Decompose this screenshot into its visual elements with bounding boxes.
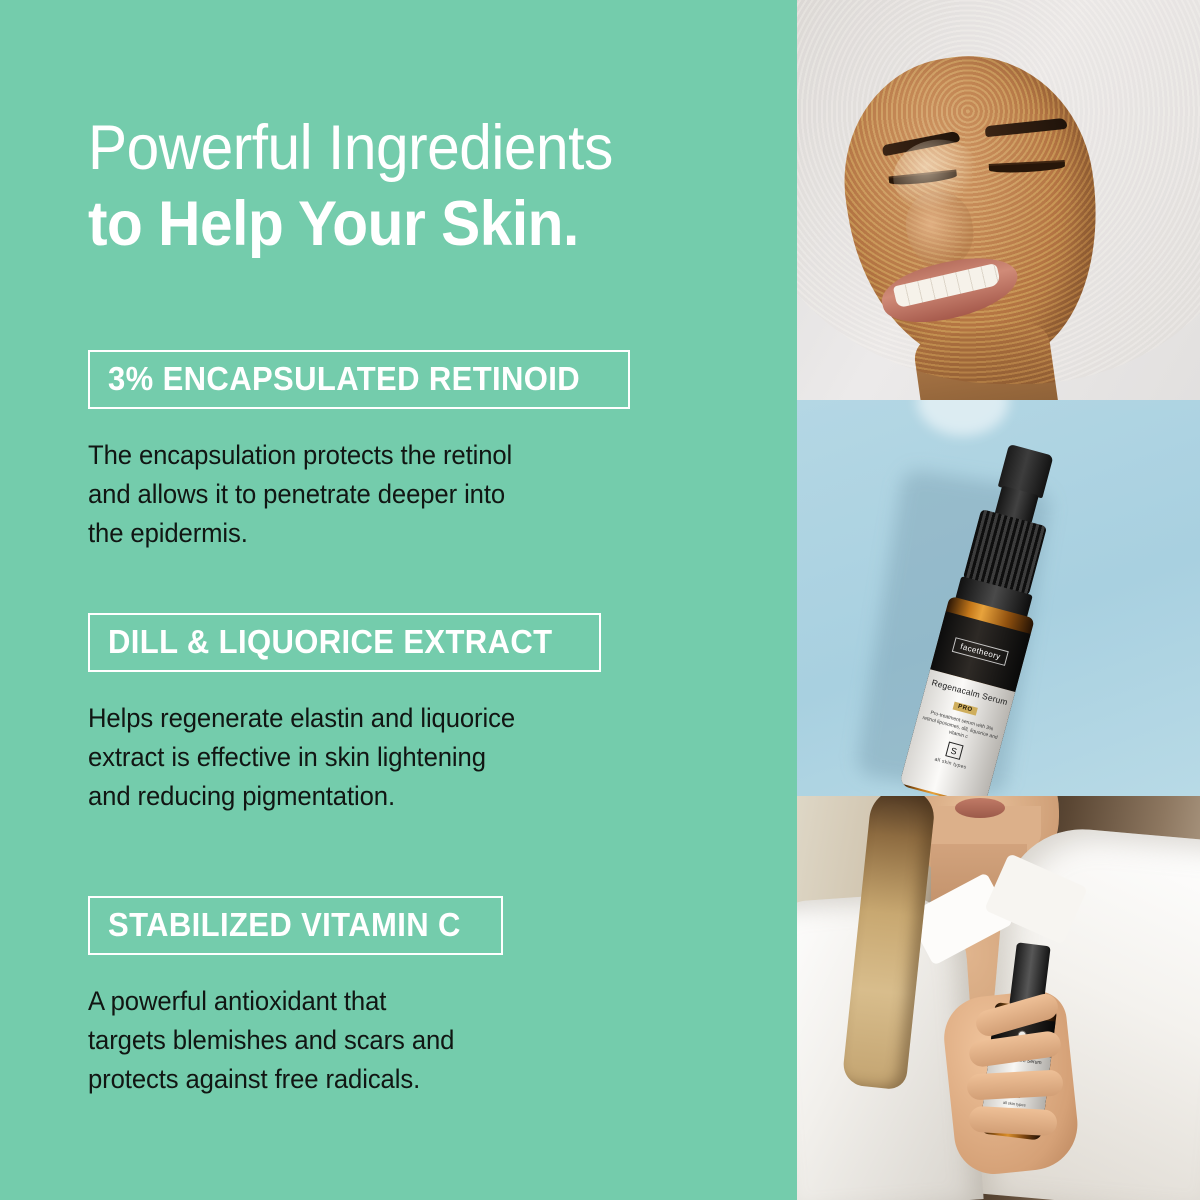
ingredient-block-retinoid: 3% ENCAPSULATED RETINOID The encapsulati… xyxy=(88,350,630,553)
skin-mark-icon: S xyxy=(945,741,963,759)
photo-column: facetheory Regenacalm Serum PRO Pro-trea… xyxy=(797,0,1200,1200)
ingredient-title-box-vitamin-c: STABILIZED VITAMIN C xyxy=(88,896,503,955)
finger-little xyxy=(968,1106,1057,1137)
infographic-page: Powerful Ingredients to Help Your Skin. … xyxy=(0,0,1200,1200)
model-hair-texture xyxy=(797,0,1200,384)
ingredient-body-retinoid: The encapsulation protects the retinol a… xyxy=(88,436,603,553)
ingredient-body-vitamin-c: A powerful antioxidant that targets blem… xyxy=(88,982,483,1099)
ingredient-title-box-retinoid: 3% ENCAPSULATED RETINOID xyxy=(88,350,630,409)
photo-smiling-model-portrait xyxy=(797,0,1200,400)
ingredient-block-dill-liquorice: DILL & LIQUORICE EXTRACT Helps regenerat… xyxy=(88,613,601,816)
ingredients-panel: Powerful Ingredients to Help Your Skin. … xyxy=(0,0,797,1200)
ingredient-title-vitamin-c: STABILIZED VITAMIN C xyxy=(108,907,461,943)
ingredient-title-dill-liquorice: DILL & LIQUORICE EXTRACT xyxy=(108,624,552,660)
product-description: Pro-treatment serum with 3% retinol lipo… xyxy=(920,708,1001,748)
ingredient-title-retinoid: 3% ENCAPSULATED RETINOID xyxy=(108,361,580,397)
finger-ring xyxy=(966,1070,1063,1101)
headline-line-2: to Help Your Skin. xyxy=(88,184,730,264)
lifestyle-model-lips xyxy=(955,798,1005,818)
photo-model-holding-bottle: Regenacalm Serum S all skin types xyxy=(797,796,1200,1200)
ingredient-block-vitamin-c: STABILIZED VITAMIN C A powerful antioxid… xyxy=(88,896,503,1099)
photo-product-bottle-flatlay: facetheory Regenacalm Serum PRO Pro-trea… xyxy=(797,400,1200,796)
product-pro-badge: PRO xyxy=(952,702,978,716)
ingredient-body-dill-liquorice: Helps regenerate elastin and liquorice e… xyxy=(88,699,575,816)
ingredient-title-box-dill-liquorice: DILL & LIQUORICE EXTRACT xyxy=(88,613,601,672)
page-title: Powerful Ingredients to Help Your Skin. xyxy=(88,112,778,264)
headline-line-1: Powerful Ingredients xyxy=(88,112,730,184)
brand-name: facetheory xyxy=(952,637,1009,666)
